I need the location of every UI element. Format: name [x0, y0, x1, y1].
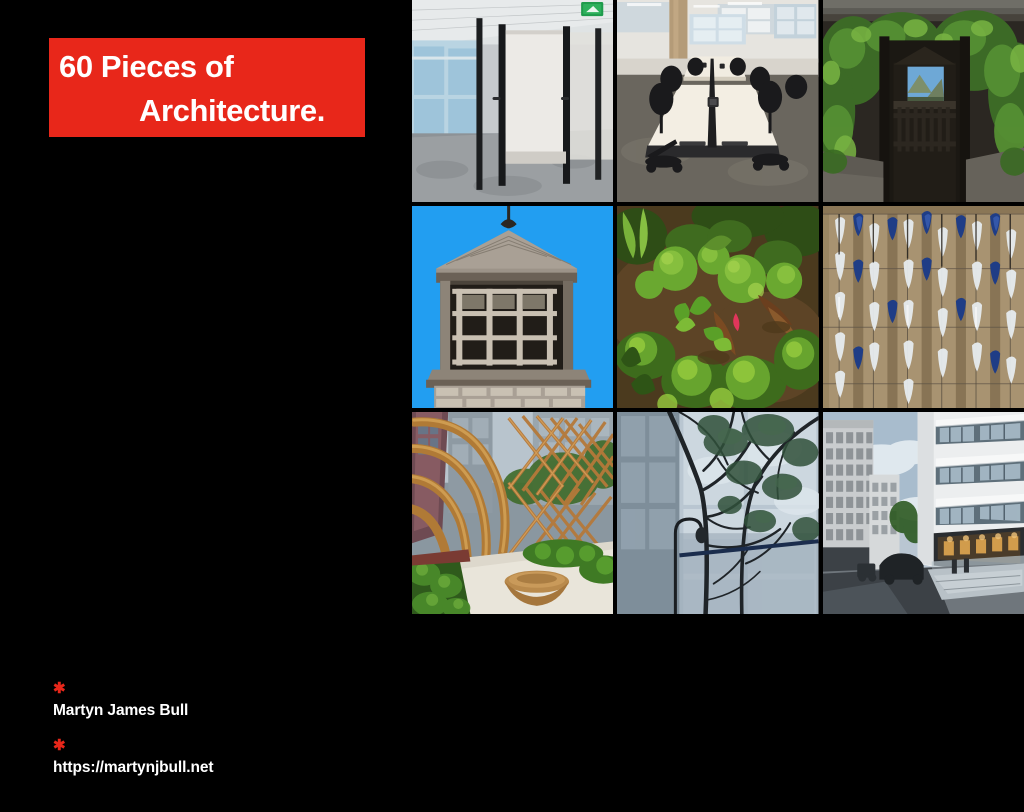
photo-tile-glass-crystals[interactable]	[823, 206, 1024, 408]
title-card: 60 Pieces of Architecture.	[49, 38, 365, 137]
title-line-1: 60 Pieces of	[55, 45, 349, 89]
photo-3-image	[823, 0, 1024, 202]
asterisk-icon: ✱	[53, 739, 373, 753]
photo-grid	[412, 0, 1024, 614]
photo-tile-meeting-room[interactable]	[617, 0, 818, 202]
photo-tile-timber-lattice-pavilion[interactable]	[412, 412, 613, 614]
photo-tile-branches-glass-facade[interactable]	[617, 412, 818, 614]
photo-tile-bell-tower[interactable]	[412, 206, 613, 408]
photo-tile-office-glass-partitions[interactable]	[412, 0, 613, 202]
author-credit-group: ✱ Martyn James Bull	[53, 682, 373, 722]
photo-2-image	[617, 0, 818, 202]
photo-9-image	[823, 412, 1024, 614]
photo-1-image	[412, 0, 613, 202]
photo-4-image	[412, 206, 613, 408]
asterisk-icon: ✱	[53, 682, 373, 696]
photo-6-image	[823, 206, 1024, 408]
footer-credits: ✱ Martyn James Bull ✱ https://martynjbul…	[53, 682, 373, 796]
photo-7-image	[412, 412, 613, 614]
photo-8-image	[617, 412, 818, 614]
photo-tile-street-modernist-building[interactable]	[823, 412, 1024, 614]
website-credit-group: ✱ https://martynjbull.net	[53, 739, 373, 779]
website-link[interactable]: https://martynjbull.net	[53, 757, 373, 779]
title-line-2: Architecture.	[55, 89, 349, 133]
photo-tile-pergola-gateway[interactable]	[823, 0, 1024, 202]
photo-tile-moss-planting[interactable]	[617, 206, 818, 408]
author-name: Martyn James Bull	[53, 700, 373, 722]
photo-5-image	[617, 206, 818, 408]
